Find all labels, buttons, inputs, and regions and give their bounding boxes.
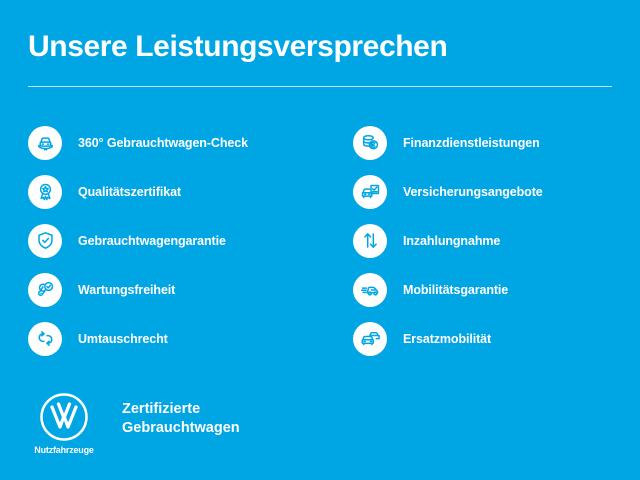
car-document-check-icon <box>353 175 387 209</box>
feature-label: Wartungsfreiheit <box>78 283 175 297</box>
feature-label: Inzahlungnahme <box>403 234 500 248</box>
page-title: Unsere Leistungsversprechen <box>28 30 447 63</box>
feature-label: Qualitätszertifikat <box>78 185 181 199</box>
feature-label: Finanzdienstleistungen <box>403 136 540 150</box>
features-column-right: Finanzdienstleistungen Versicherungsange… <box>320 118 640 363</box>
feature-label: Gebrauchtwagengarantie <box>78 234 226 248</box>
shield-check-icon <box>28 224 62 258</box>
footer-headline: Zertifizierte Gebrauchtwagen <box>122 400 240 437</box>
brand-subtitle: Nutzfahrzeuge <box>34 445 93 455</box>
wrench-check-icon <box>28 273 62 307</box>
feature-item[interactable]: Gebrauchtwagengarantie <box>28 216 320 265</box>
volkswagen-logo <box>39 392 89 442</box>
feature-label: 360° Gebrauchtwagen-Check <box>78 136 248 150</box>
feature-item[interactable]: 360° Gebrauchtwagen-Check <box>28 118 320 167</box>
feature-label: Umtauschrecht <box>78 332 168 346</box>
features-grid: 360° Gebrauchtwagen-Check Qualitätszerti… <box>0 118 640 363</box>
footer: Nutzfahrzeuge Zertifizierte Gebrauchtwag… <box>28 392 240 455</box>
footer-headline-line1: Zertifizierte <box>122 400 240 419</box>
van-motion-icon <box>353 273 387 307</box>
feature-item[interactable]: Qualitätszertifikat <box>28 167 320 216</box>
title-divider <box>28 86 612 87</box>
arrows-up-down-icon <box>353 224 387 258</box>
features-column-left: 360° Gebrauchtwagen-Check Qualitätszerti… <box>0 118 320 363</box>
feature-label: Mobilitätsgarantie <box>403 283 508 297</box>
footer-headline-line2: Gebrauchtwagen <box>122 419 240 438</box>
exchange-arrows-icon <box>28 322 62 356</box>
feature-item[interactable]: Finanzdienstleistungen <box>353 118 640 167</box>
car-360-check-icon <box>28 126 62 160</box>
feature-item[interactable]: Inzahlungnahme <box>353 216 640 265</box>
feature-item[interactable]: Ersatzmobilität <box>353 314 640 363</box>
brand-logo-block: Nutzfahrzeuge <box>28 392 100 455</box>
award-rosette-icon <box>28 175 62 209</box>
feature-label: Versicherungsangebote <box>403 185 543 199</box>
feature-item[interactable]: Umtauschrecht <box>28 314 320 363</box>
feature-item[interactable]: Wartungsfreiheit <box>28 265 320 314</box>
feature-label: Ersatzmobilität <box>403 332 491 346</box>
coins-euro-icon <box>353 126 387 160</box>
feature-item[interactable]: Versicherungsangebote <box>353 167 640 216</box>
feature-item[interactable]: Mobilitätsgarantie <box>353 265 640 314</box>
two-cars-icon <box>353 322 387 356</box>
promise-slide: Unsere Leistungsversprechen 360° Gebrauc… <box>0 0 640 480</box>
